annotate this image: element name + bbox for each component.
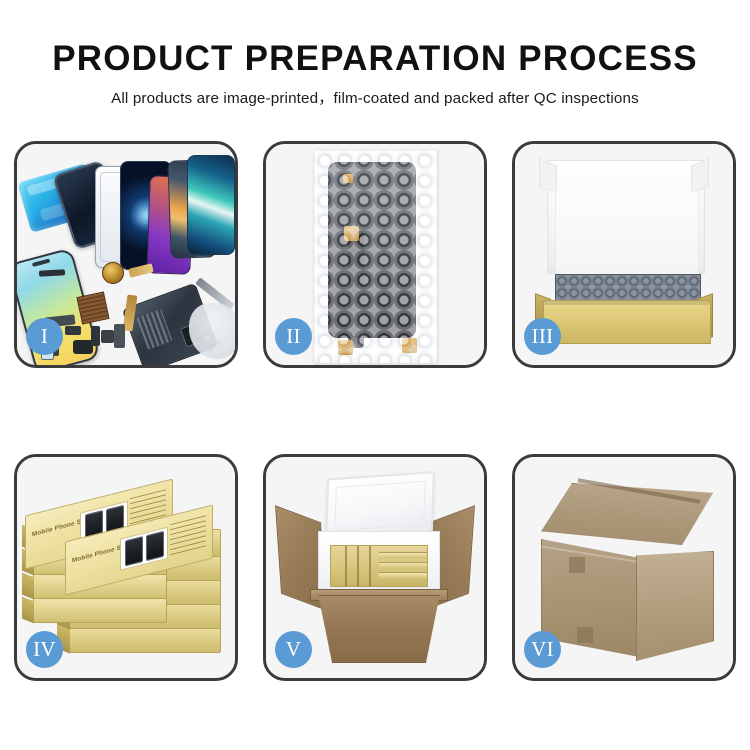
- stacked-box-left-1: [33, 597, 167, 623]
- process-step-panel-4: Mobile Phone Spare Parts Mobile Phone Sp…: [14, 454, 238, 681]
- process-step-panel-5: V: [263, 454, 487, 681]
- connector-4-shape: [343, 174, 353, 183]
- box-lid-flap-left-shape: [539, 158, 557, 193]
- product-preparation-process-infographic: PRODUCT PREPARATION PROCESS All products…: [0, 0, 750, 750]
- process-step-grid: I II: [14, 141, 736, 681]
- small-part-1-shape: [73, 340, 93, 354]
- vibration-motor-shape: [102, 262, 124, 284]
- phone-display-teal-shape: [187, 155, 235, 255]
- box-body-shape: [543, 300, 711, 344]
- page-subtitle: All products are image-printed，film-coat…: [0, 86, 750, 108]
- screen-assembly-shape: [328, 162, 416, 338]
- step-badge-2: II: [275, 318, 312, 355]
- box-label-spec-lines-2: [170, 515, 206, 558]
- box-lid-flap-right-shape: [691, 158, 709, 193]
- step-badge-5: V: [275, 631, 312, 668]
- box-inner-liner-shape: [555, 192, 699, 274]
- carton-body-shape: [310, 595, 448, 663]
- phone-thumbnail-icon: [146, 531, 164, 561]
- process-step-panel-2: II: [263, 141, 487, 368]
- step-badge-4: IV: [26, 631, 63, 668]
- step-badge-3: III: [524, 318, 561, 355]
- phone-thumbnail-icon: [125, 536, 143, 566]
- carton-tape-patch-1-shape: [569, 557, 585, 573]
- small-part-3-shape: [91, 326, 100, 346]
- process-step-panel-6: VI: [512, 454, 736, 681]
- connector-1-shape: [344, 226, 359, 241]
- process-step-panel-1: I: [14, 141, 238, 368]
- carton-tape-patch-2-shape: [577, 627, 593, 643]
- connector-3-shape: [402, 338, 417, 353]
- small-part-5-shape: [114, 324, 125, 348]
- packed-yellow-boxes-shape: [330, 545, 428, 587]
- small-part-4-shape: [101, 330, 114, 343]
- box-label-image-2: [120, 527, 168, 571]
- carton-right-face-shape: [636, 551, 714, 661]
- connector-2-shape: [338, 340, 353, 355]
- logic-board-chip-shape: [76, 291, 109, 324]
- stacked-box-right-1: [69, 625, 221, 653]
- step-badge-1: I: [26, 318, 63, 355]
- header: PRODUCT PREPARATION PROCESS All products…: [0, 38, 750, 108]
- carton-top-face-shape: [541, 483, 713, 545]
- flex-cable-shape: [348, 230, 364, 348]
- step-badge-6: VI: [524, 631, 561, 668]
- process-step-panel-3: III: [512, 141, 736, 368]
- page-title: PRODUCT PREPARATION PROCESS: [0, 38, 750, 80]
- small-part-2-shape: [65, 326, 81, 335]
